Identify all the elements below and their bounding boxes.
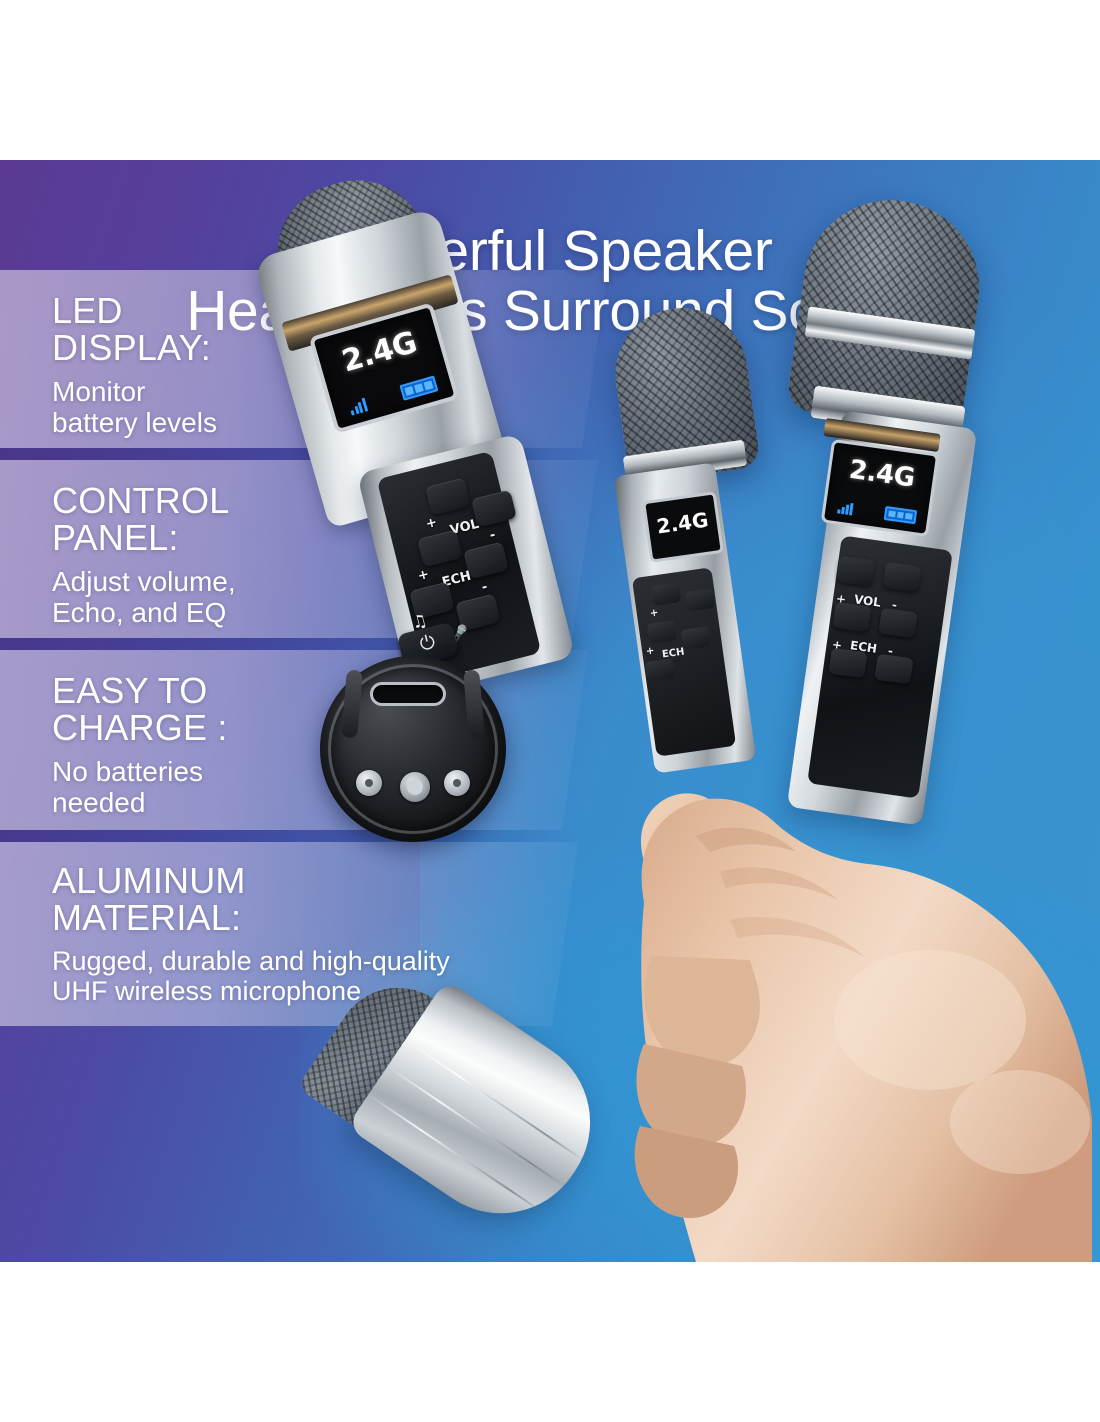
battery-icon	[399, 376, 438, 401]
promo-banner: Powerful Speaker Heavy Bass Surround Sou…	[0, 160, 1100, 1262]
hero-product-photo: 2.4G + + ECH 2.4G	[600, 160, 1100, 1262]
feature-led-display: LED DISPLAY: Monitor battery levels	[52, 292, 217, 439]
feature-control-panel: CONTROL PANEL: Adjust volume, Echo, and …	[52, 482, 236, 629]
feature-easy-to-charge: EASY TO CHARGE : No batteries needed	[52, 672, 228, 819]
led-screen-value: 2.4G	[317, 319, 442, 386]
hand-highlight	[834, 950, 1026, 1090]
feature-title: CONTROL PANEL:	[52, 482, 236, 557]
control-panel-photo: + VOL - + ECH - ♫ 🎤	[382, 460, 592, 656]
feature-title: EASY TO CHARGE :	[52, 672, 228, 747]
feature-title: LED DISPLAY:	[52, 292, 217, 367]
feature-description: Rugged, durable and high-quality UHF wir…	[52, 946, 450, 1006]
wrist-highlight	[950, 1070, 1090, 1174]
feature-description: Adjust volume, Echo, and EQ	[52, 566, 236, 629]
signal-bars-icon	[348, 397, 368, 416]
charging-contact-center	[400, 772, 430, 802]
feature-aluminum-material: ALUMINUM MATERIAL: Rugged, durable and h…	[52, 862, 450, 1006]
usb-c-port	[370, 682, 446, 706]
mic-bottom-cap	[320, 656, 506, 842]
led-display-photo: 2.4G	[268, 268, 568, 458]
hand-holding-microphones	[600, 160, 1100, 1262]
feature-description: Monitor battery levels	[52, 376, 217, 439]
charging-contact-left	[356, 770, 382, 796]
feature-title: ALUMINUM MATERIAL:	[52, 862, 450, 937]
aluminum-body-photo	[300, 1032, 630, 1242]
charging-contact-right	[444, 770, 470, 796]
charging-port-photo	[300, 650, 540, 845]
barrel-groove	[405, 1039, 584, 1160]
feature-description: No batteries needed	[52, 756, 228, 819]
